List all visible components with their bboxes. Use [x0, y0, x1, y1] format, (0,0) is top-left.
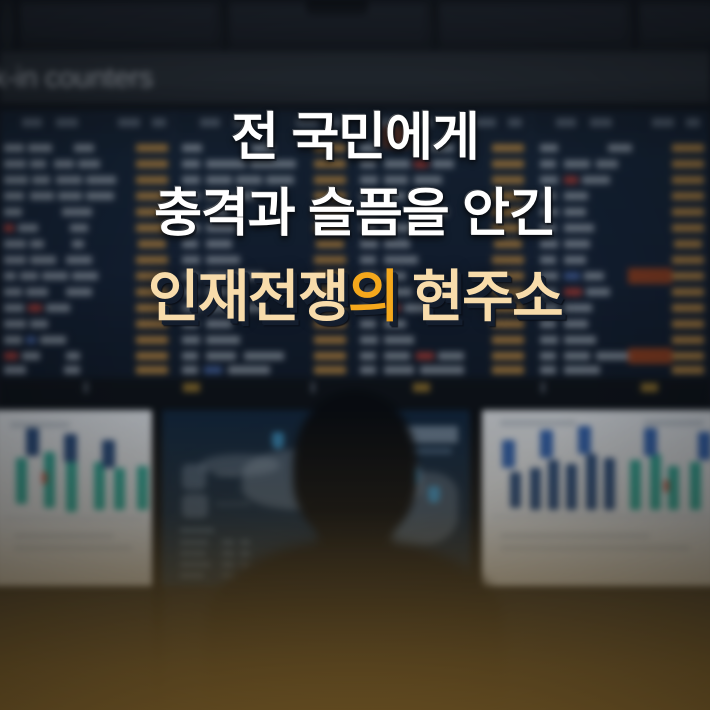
- headline-line-3-prefix: 인재전쟁: [148, 265, 348, 328]
- headline-line-1: 전 국민에게: [0, 108, 710, 168]
- headline-overlay: 전 국민에게 충격과 슬픔을 안긴 인재전쟁의 현주소: [0, 0, 710, 710]
- headline-line-3: 인재전쟁의 현주소: [0, 264, 710, 330]
- thumbnail-card: ck-in counters: [0, 0, 710, 710]
- headline-line-3-accent: 의: [348, 265, 398, 328]
- headline-line-2: 충격과 슬픔을 안긴: [0, 184, 710, 244]
- headline-line-3-suffix: 현주소: [398, 265, 562, 328]
